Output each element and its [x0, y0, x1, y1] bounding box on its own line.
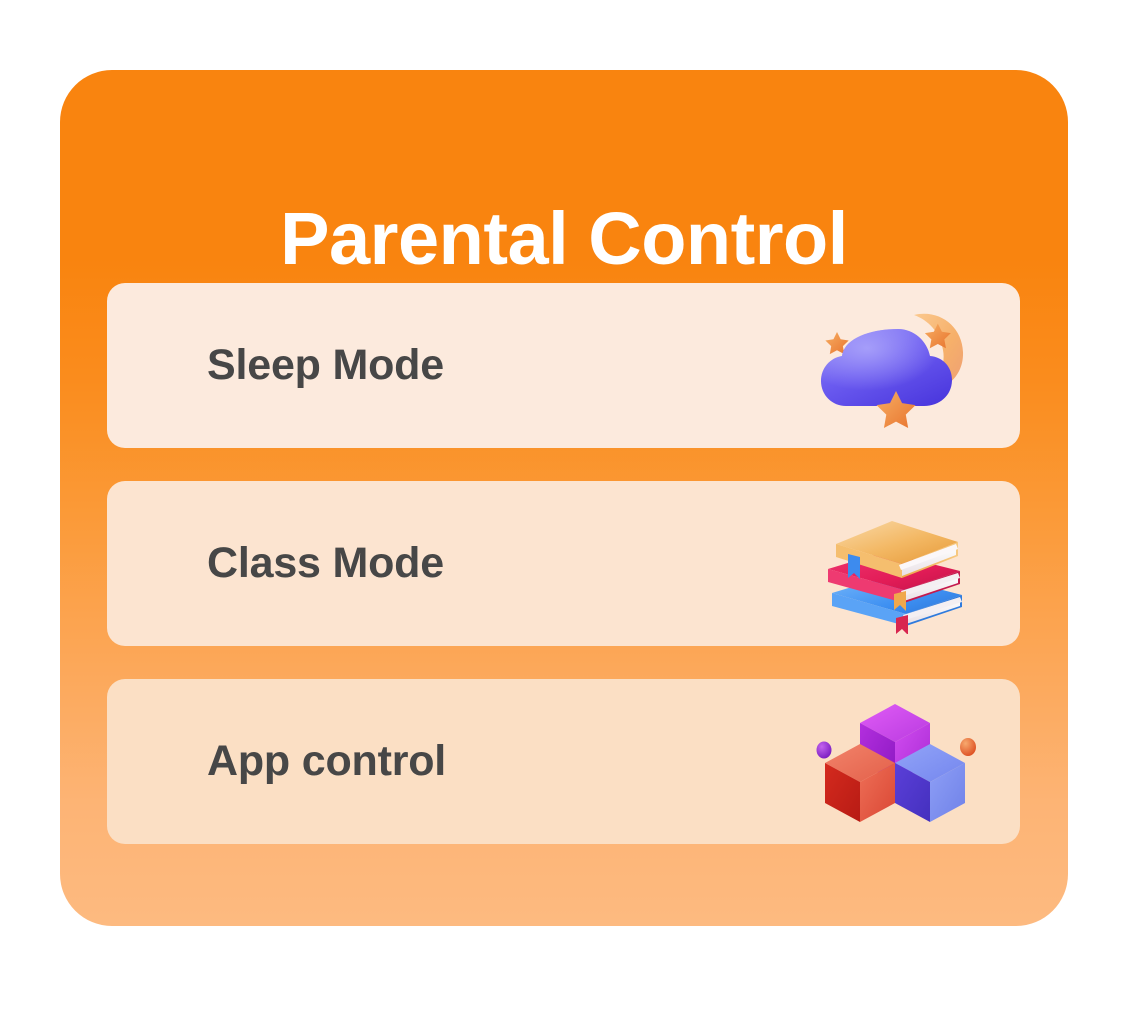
sleep-cloud-moon-icon [810, 296, 980, 436]
sidebar-item-class-mode[interactable]: Class Mode [107, 481, 1020, 646]
card-label: Class Mode [207, 542, 444, 585]
sidebar-item-app-control[interactable]: App control [107, 679, 1020, 844]
stacked-books-icon [810, 494, 980, 634]
parental-control-screen: Parental Control Sleep Mode [0, 0, 1125, 1034]
parental-control-panel: Parental Control Sleep Mode [60, 70, 1068, 926]
parental-control-options-list: Sleep Mode [107, 283, 1020, 844]
page-title: Parental Control [60, 202, 1068, 276]
three-cubes-icon [810, 692, 980, 832]
card-label: Sleep Mode [207, 344, 444, 387]
sidebar-item-sleep-mode[interactable]: Sleep Mode [107, 283, 1020, 448]
card-label: App control [207, 740, 446, 783]
